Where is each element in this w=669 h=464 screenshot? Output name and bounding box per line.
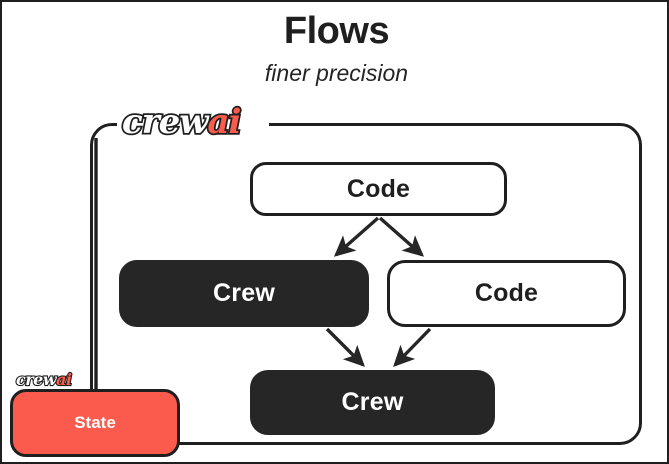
page-subtitle: finer precision — [2, 60, 669, 86]
crewai-logo-small: crewai — [16, 372, 72, 388]
node-crew-bot-label: Crew — [342, 388, 404, 417]
crewai-logo: crewai — [122, 105, 240, 139]
crewai-logo-ai-text: ai — [208, 102, 241, 142]
node-crew-mid[interactable]: Crew — [119, 260, 369, 327]
crewai-logo-small-ai-text: ai — [56, 370, 71, 389]
node-state-label: State — [74, 413, 116, 433]
node-state[interactable]: State — [10, 389, 180, 457]
diagram-canvas: Flows finer precision Code Crew Code Cre… — [0, 0, 669, 464]
node-crew-mid-label: Crew — [213, 279, 275, 308]
page-title: Flows — [2, 10, 669, 53]
node-code-mid[interactable]: Code — [387, 260, 626, 327]
node-code-mid-label: Code — [475, 279, 538, 308]
node-crew-bot[interactable]: Crew — [250, 370, 495, 435]
node-code-top[interactable]: Code — [250, 162, 507, 216]
node-code-top-label: Code — [347, 175, 410, 204]
crewai-logo-small-crew-text: crew — [16, 370, 56, 389]
crewai-logo-crew-text: crew — [122, 102, 208, 142]
